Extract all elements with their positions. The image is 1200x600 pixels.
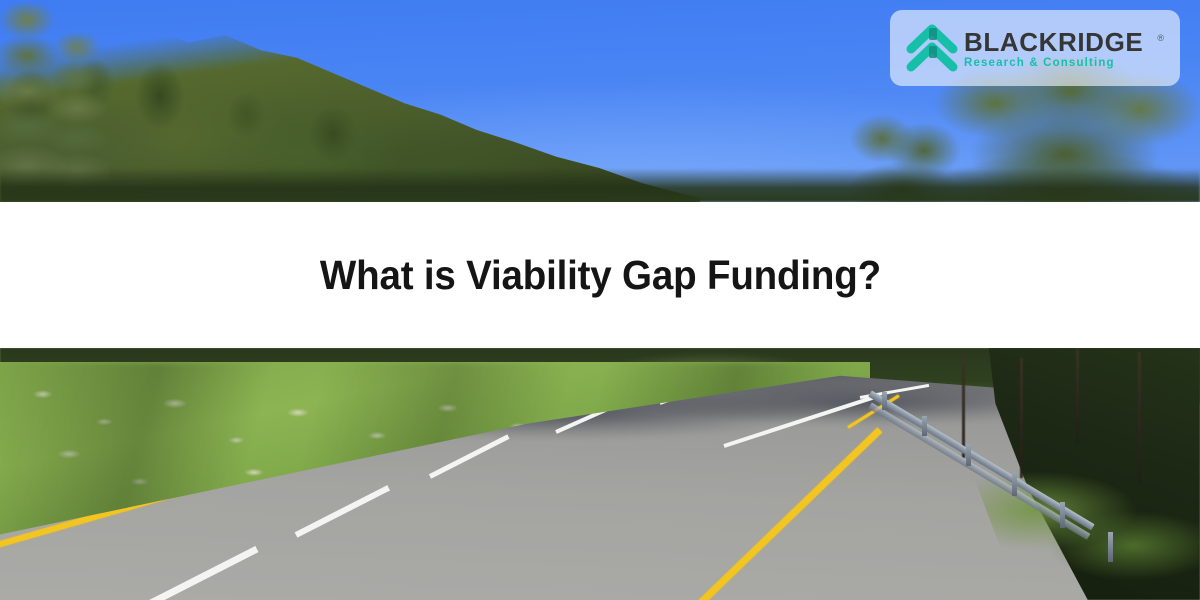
guardrail-beam-lower — [868, 402, 1090, 539]
page-title: What is Viability Gap Funding? — [319, 252, 880, 299]
guardrail-post — [966, 444, 971, 466]
brand-tagline: Research & Consulting — [964, 57, 1166, 70]
guardrail-post — [1108, 532, 1113, 562]
brand-logo[interactable]: BLACKRIDGE Research & Consulting ® — [890, 10, 1180, 86]
brand-lockup-text: BLACKRIDGE Research & Consulting ® — [964, 27, 1166, 70]
white-dash — [295, 485, 390, 538]
brand-name: BLACKRIDGE — [964, 29, 1166, 56]
article-hero-banner: BLACKRIDGE Research & Consulting ® What … — [0, 0, 1200, 600]
top-photo-shadow-edge — [0, 168, 1200, 202]
guardrail-post — [1012, 472, 1017, 496]
guardrail-post — [1060, 502, 1065, 528]
registered-trademark-icon: ® — [1157, 33, 1164, 43]
guardrail-post — [922, 416, 927, 436]
white-dash — [148, 546, 258, 600]
double-chevron-up-icon — [904, 22, 960, 74]
title-band: What is Viability Gap Funding? — [0, 202, 1200, 348]
white-edge-line — [723, 395, 876, 448]
guardrail-post — [882, 392, 887, 410]
bottom-road-photo — [0, 348, 1200, 600]
top-landscape-photo: BLACKRIDGE Research & Consulting ® — [0, 0, 1200, 202]
metal-guardrail — [870, 382, 1200, 600]
